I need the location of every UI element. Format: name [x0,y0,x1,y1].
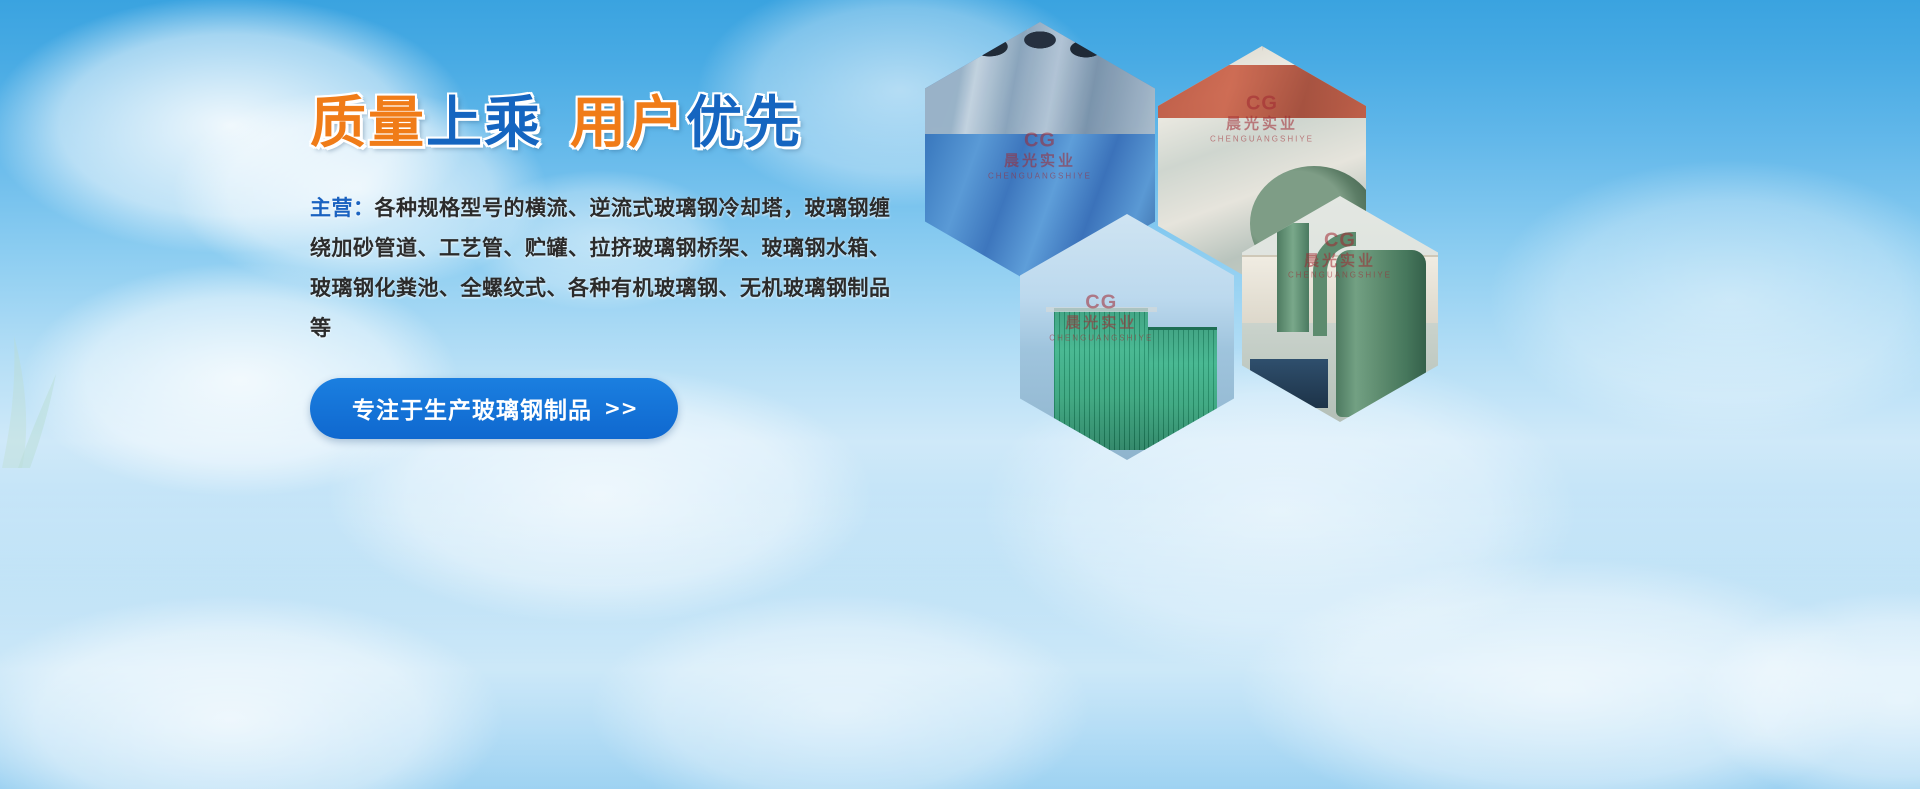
railing-detail [1046,307,1157,312]
banner-description: 主营：各种规格型号的横流、逆流式玻璃钢冷却塔，玻璃钢缠绕加砂管道、工艺管、贮罐、… [310,188,910,348]
product-gallery: CG 晨光实业 CHENGUANGSHIYE CG 晨光实业 CHENGUANG… [920,14,1440,414]
headline-part-2: 上乘 [426,92,542,156]
horizon-haze [0,489,1920,789]
red-band-detail [1158,65,1366,118]
headline-part-3: 用户 [570,92,686,156]
stack-detail [1277,223,1308,331]
description-lead: 主营： [310,196,375,220]
description-line-3: 粪池、全螺纹式、各种有机玻璃钢、无机玻璃钢制品等 [310,276,891,340]
leaf-icon [0,330,60,470]
double-chevron-right-icon: >> [604,396,638,420]
vessel-detail [1336,250,1426,417]
headline-part-1: 质量 [310,92,426,156]
cloud-shape [1420,120,1920,480]
headline-part-4: 优先 [686,92,802,156]
cta-label: 专注于生产玻璃钢制品 [352,391,592,425]
promo-banner: 质量上乘用户优先 主营：各种规格型号的横流、逆流式玻璃钢冷却塔，玻璃钢缠绕加砂管… [0,0,1920,789]
banner-headline: 质量上乘用户优先 [310,92,910,156]
window-detail [1250,359,1328,409]
pipe-ends-detail [925,22,1155,134]
banner-content: 质量上乘用户优先 主营：各种规格型号的横流、逆流式玻璃钢冷却塔，玻璃钢缠绕加砂管… [310,92,910,439]
cta-button[interactable]: 专注于生产玻璃钢制品 >> [310,378,678,439]
